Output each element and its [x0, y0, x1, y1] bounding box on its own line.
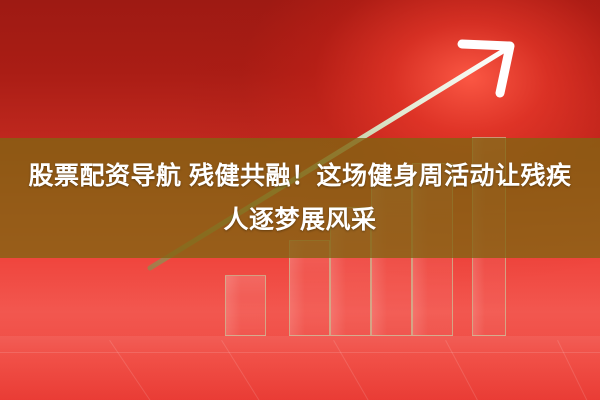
bar-1	[225, 275, 266, 336]
poster-canvas: 股票配资导航 残健共融！这场健身周活动让残疾人逐梦展风采	[0, 0, 600, 400]
page-title: 股票配资导航 残健共融！这场健身周活动让残疾人逐梦展风采	[10, 154, 590, 242]
headline-band: 股票配资导航 残健共融！这场健身周活动让残疾人逐梦展风采	[0, 138, 600, 258]
floor-surface	[0, 336, 600, 400]
floor-horizon-line	[0, 352, 600, 353]
bar-highlight	[226, 276, 241, 335]
